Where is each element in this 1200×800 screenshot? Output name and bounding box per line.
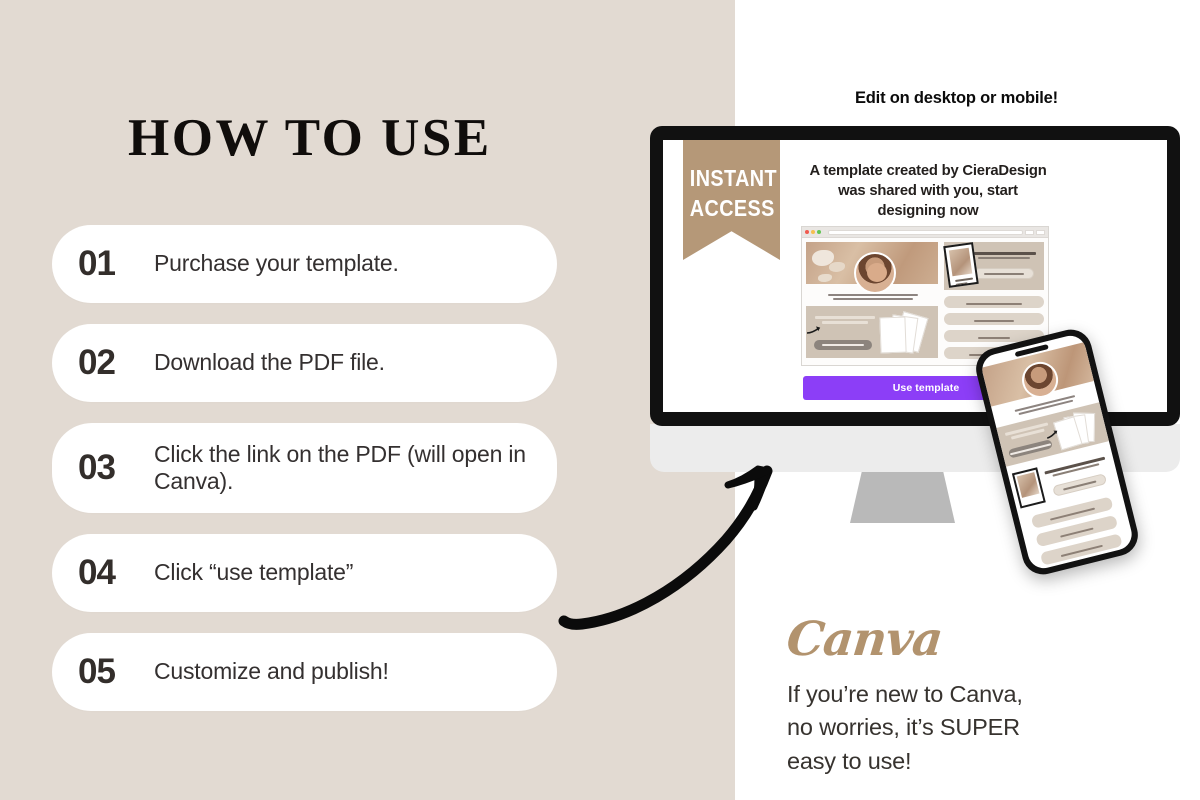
- arrow-icon: [806, 324, 822, 336]
- step-number: 03: [78, 448, 150, 488]
- browser-control-icon: [1025, 230, 1034, 235]
- minimize-icon: [811, 230, 815, 234]
- avatar: [854, 252, 896, 294]
- list-item[interactable]: 04 Click “use template”: [52, 534, 557, 612]
- canva-copy: If you’re new to Canva, no worries, it’s…: [787, 678, 1127, 778]
- list-item[interactable]: 03 Click the link on the PDF (will open …: [52, 423, 557, 513]
- maximize-icon: [817, 230, 821, 234]
- phone-product-thumbnail: [1012, 467, 1046, 508]
- get-guide-kit-button[interactable]: [974, 268, 1034, 279]
- link-button[interactable]: [944, 296, 1044, 308]
- steps-list: 01 Purchase your template. 02 Download t…: [52, 225, 557, 732]
- share-headline: A template created by CieraDesign was sh…: [803, 162, 1053, 221]
- step-number: 04: [78, 553, 150, 593]
- poster-canvas: HOW TO USE 01 Purchase your template. 02…: [0, 0, 1200, 800]
- phone-download-button[interactable]: [1008, 439, 1053, 458]
- step-label: Download the PDF file.: [150, 349, 385, 376]
- browser-control-icon: [1036, 230, 1045, 235]
- product-thumbnail-card: [943, 242, 979, 288]
- download-now-button[interactable]: [814, 340, 872, 350]
- promo-title: [814, 314, 876, 326]
- step-label: Click the link on the PDF (will open in …: [150, 441, 531, 495]
- canva-copy-line-2: no worries, it’s SUPER: [787, 711, 1127, 744]
- pointing-arrow-icon: [558, 425, 823, 640]
- list-item[interactable]: 01 Purchase your template.: [52, 225, 557, 303]
- list-item[interactable]: 05 Customize and publish!: [52, 633, 557, 711]
- list-item[interactable]: 02 Download the PDF file.: [52, 324, 557, 402]
- freebie-card-stack: [874, 312, 932, 356]
- address-bar: [828, 230, 1023, 235]
- monitor-stand: [850, 468, 955, 523]
- step-label: Purchase your template.: [150, 250, 399, 277]
- product-title: [972, 250, 1036, 261]
- desktop-monitor-mockup: INSTANT ACCESS A template created by Cie…: [650, 126, 1180, 426]
- freebie-promo-block: [806, 306, 938, 358]
- step-label: Customize and publish!: [150, 658, 389, 685]
- canva-copy-line-1: If you’re new to Canva,: [787, 678, 1127, 711]
- step-label: Click “use template”: [150, 559, 353, 586]
- instant-access-ribbon: INSTANT ACCESS: [683, 140, 780, 260]
- link-button[interactable]: [944, 313, 1044, 325]
- edit-on-devices-note: Edit on desktop or mobile!: [855, 89, 1058, 108]
- browser-titlebar: [802, 227, 1048, 238]
- ribbon-line-2: ACCESS: [690, 193, 773, 223]
- step-number: 05: [78, 652, 150, 692]
- close-icon: [805, 230, 809, 234]
- step-number: 02: [78, 343, 150, 383]
- ribbon-line-1: INSTANT: [690, 163, 773, 193]
- canva-logo: Canva: [784, 612, 945, 667]
- page-title: HOW TO USE: [128, 112, 548, 165]
- canva-copy-line-3: easy to use!: [787, 745, 1127, 778]
- step-number: 01: [78, 244, 150, 284]
